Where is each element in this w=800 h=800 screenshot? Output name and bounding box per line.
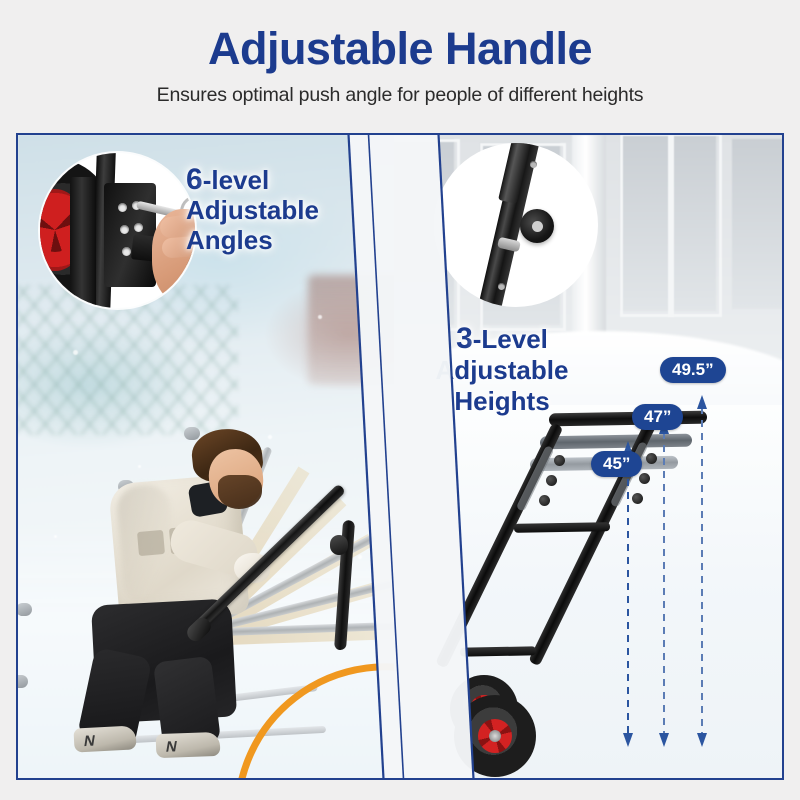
bracket-hole [118, 203, 127, 212]
adjustment-nub [539, 495, 550, 506]
left-callout-line3: Angles [186, 225, 273, 255]
cart-crossbar-upper [514, 522, 610, 533]
adjustment-nub [639, 473, 650, 484]
bracket-hole [120, 225, 129, 234]
hand-cart-frame [394, 135, 784, 778]
snowflake [73, 350, 78, 355]
shoe-logo: N [83, 732, 97, 750]
snowflake [318, 315, 322, 319]
left-panel: 6-level Adjustable Angles [18, 135, 418, 778]
background-fence [18, 285, 238, 435]
shoe-front: N [156, 732, 221, 758]
shoe-logo: N [165, 738, 179, 755]
left-callout-line1: -level [203, 165, 270, 195]
bracket-hole [134, 223, 143, 232]
left-callout-number: 6 [186, 163, 203, 196]
adjustment-nub [632, 493, 643, 504]
adjustment-nub [646, 453, 657, 464]
jacket-pocket [137, 530, 165, 556]
image-frame: 6-level Adjustable Angles [16, 133, 784, 780]
height-badge-45: 45” [591, 451, 642, 477]
ghost-handle-tip [18, 603, 32, 616]
handle-bar-level-2 [540, 434, 692, 450]
adjustment-nub [554, 455, 565, 466]
handle-end-cap [330, 535, 348, 555]
snowflake [54, 535, 57, 538]
wheel-cap [489, 730, 501, 742]
header: Adjustable Handle Ensures optimal push a… [0, 0, 800, 133]
adjustment-nub [546, 475, 557, 486]
left-callout-text: 6-level Adjustable Angles [186, 165, 366, 255]
beard [218, 475, 262, 509]
height-badge-495: 49.5” [660, 357, 726, 383]
locking-pin-inset-photo [40, 153, 195, 308]
height-badge-47: 47” [632, 404, 683, 430]
shoe-back: N [73, 725, 136, 752]
cart-crossbar-lower [460, 646, 536, 656]
page-title: Adjustable Handle [0, 22, 800, 76]
product-feature-poster: Adjustable Handle Ensures optimal push a… [0, 0, 800, 800]
cart-wheel-front [454, 695, 536, 777]
page-subtitle: Ensures optimal push angle for people of… [0, 84, 800, 107]
inset-side-post [70, 177, 96, 308]
person-pushing-plow: N N [78, 427, 298, 757]
snowflake [358, 555, 362, 559]
bracket-hole [122, 247, 131, 256]
left-callout-line2: Adjustable [186, 195, 319, 225]
right-panel: 3-Level Adjustable Heights [394, 135, 784, 778]
handle-bar-level-3 [549, 411, 707, 427]
